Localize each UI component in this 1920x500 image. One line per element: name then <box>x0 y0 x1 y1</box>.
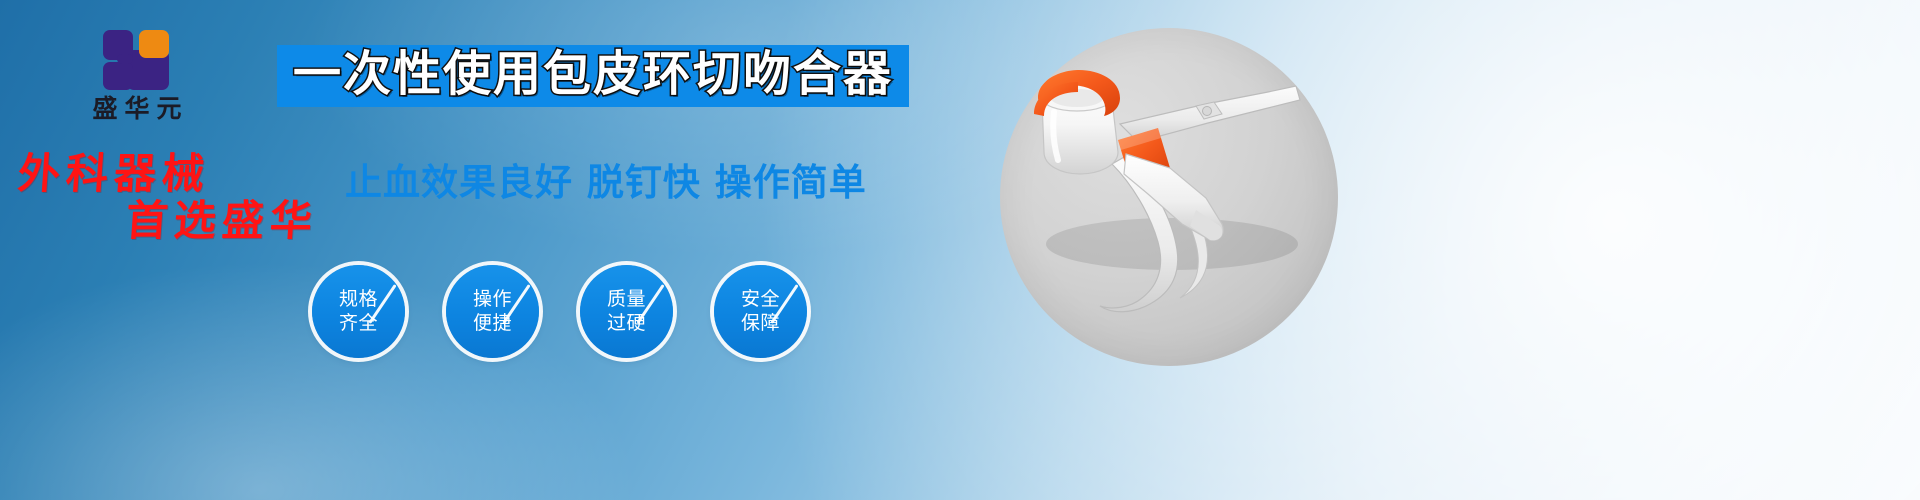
badge-label-line-1: 安全 <box>741 288 780 310</box>
feature-badge[interactable]: 安全 保障 <box>714 265 807 358</box>
calligraphy-line-1: 外科器械 <box>16 150 349 197</box>
badge-label-line-2: 齐全 <box>339 312 378 334</box>
badge-label-line-1: 操作 <box>473 288 512 310</box>
badge-label-line-1: 质量 <box>607 288 646 310</box>
page-title: 一次性使用包皮环切吻合器 <box>293 50 893 98</box>
brand-blocks-icon <box>99 28 175 92</box>
feature-badge[interactable]: 质量 过硬 <box>580 265 673 358</box>
calligraphy-line-2: 首选盛华 <box>124 197 349 244</box>
product-title-band: 一次性使用包皮环切吻合器 <box>277 45 909 107</box>
product-image <box>1000 28 1338 366</box>
calligraphy-slogan: 外科器械 首选盛华 <box>18 150 348 244</box>
product-subtitle: 止血效果良好 脱钉快 操作简单 <box>345 163 867 204</box>
product-disc-background <box>1000 28 1338 366</box>
badge-label-line-2: 保障 <box>741 312 780 334</box>
badge-label-line-2: 过硬 <box>607 312 646 334</box>
feature-badge-list: 规格 齐全 操作 便捷 质量 过硬 安全 保障 <box>312 265 807 358</box>
brand-logo: 盛华元 <box>62 28 212 122</box>
badge-label-line-2: 便捷 <box>473 312 512 334</box>
badge-label-line-1: 规格 <box>339 288 378 310</box>
brand-name: 盛华元 <box>62 96 212 122</box>
feature-badge[interactable]: 规格 齐全 <box>312 265 405 358</box>
promo-banner: 盛华元 一次性使用包皮环切吻合器 外科器械 首选盛华 止血效果良好 脱钉快 操作… <box>0 0 1920 500</box>
feature-badge[interactable]: 操作 便捷 <box>446 265 539 358</box>
circumcision-stapler-device-photo <box>1000 28 1338 366</box>
